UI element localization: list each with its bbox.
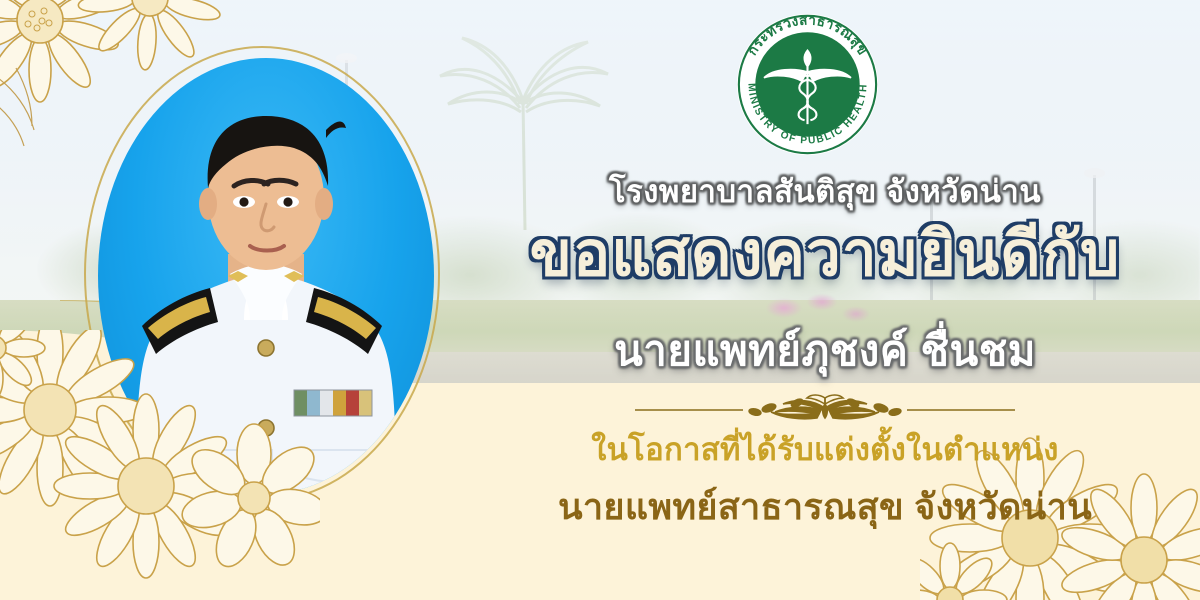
congratulations-banner: กระทรวงสาธารณสุข MINISTRY OF PUBLIC HEAL… <box>0 0 1200 600</box>
congratulations-headline: ขอแสดงความยินดีกับ <box>450 222 1200 289</box>
portrait-frame <box>98 58 434 494</box>
ministry-of-public-health-seal: กระทรวงสาธารณสุข MINISTRY OF PUBLIC HEAL… <box>735 12 880 157</box>
text-content: กระทรวงสาธารณสุข MINISTRY OF PUBLIC HEAL… <box>450 0 1200 600</box>
portrait-oval <box>98 58 434 494</box>
appointed-position: นายแพทย์สาธารณสุข จังหวัดน่าน <box>450 478 1200 535</box>
honoree-name: นายแพทย์ภุชงค์ ชื่นชม <box>450 318 1200 384</box>
laurel-flourish-divider <box>625 392 1025 426</box>
occasion-text: ในโอกาสที่ได้รับแต่งตั้งในตำแหน่ง <box>450 424 1200 474</box>
organization-name: โรงพยาบาลสันติสุข จังหวัดน่าน <box>450 166 1200 216</box>
honoree-portrait <box>98 58 434 494</box>
